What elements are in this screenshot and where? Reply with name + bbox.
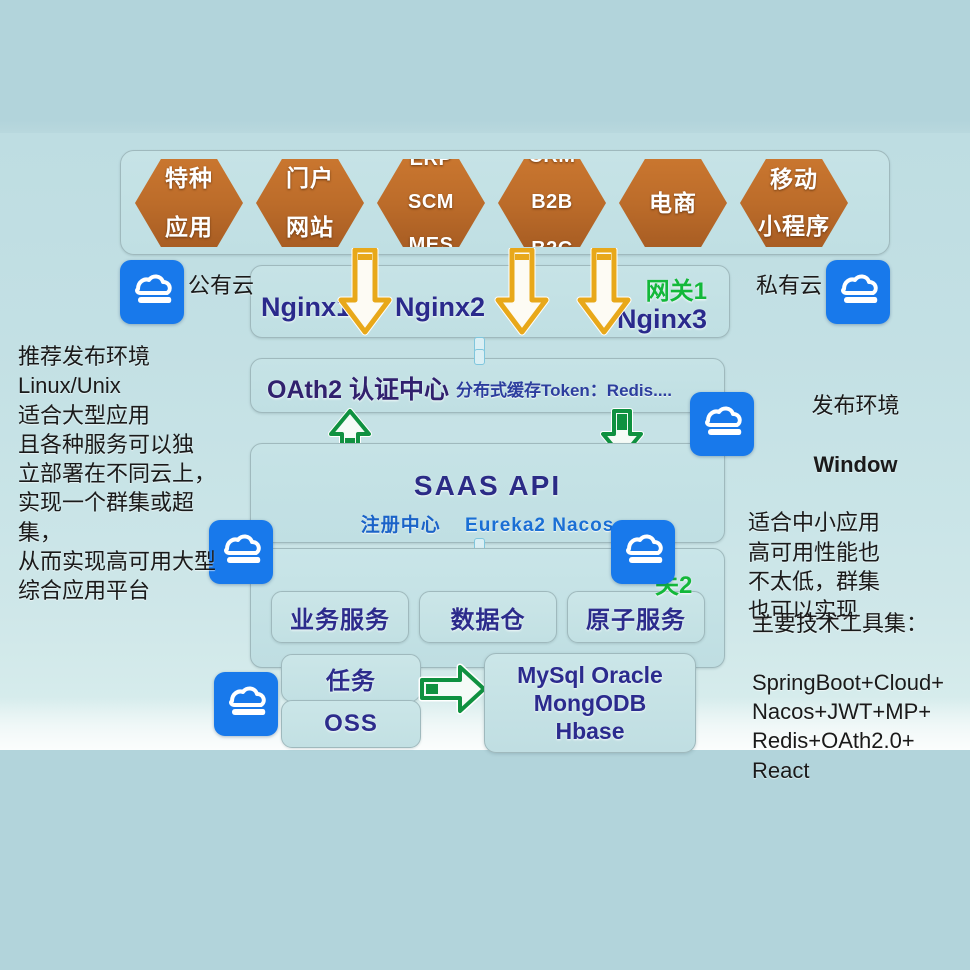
public-cloud-label: 公有云 — [188, 268, 254, 300]
hex-line: SCM — [408, 192, 454, 214]
hex-line: 移动 — [758, 167, 830, 192]
app-hex-mobile[interactable]: 移动小程序 — [740, 159, 848, 247]
cloud-icon-private[interactable] — [826, 260, 890, 324]
saas-title: SAAS API — [251, 470, 724, 502]
database-box[interactable]: MySql Oracle MongODB Hbase — [484, 653, 696, 753]
task-label: 任务 — [326, 661, 376, 696]
app-hex-special[interactable]: 特种应用 — [135, 159, 243, 247]
db-line: Hbase — [555, 717, 624, 745]
cloud-icon — [620, 532, 666, 572]
oss-label: OSS — [324, 710, 378, 738]
tech-note-body: SpringBoot+Cloud+ Nacos+JWT+MP+ Redis+OA… — [752, 668, 967, 785]
cloud-icon — [129, 272, 175, 312]
oss-box[interactable]: OSS — [281, 700, 421, 748]
app-hex-ecommerce[interactable]: 电商 — [619, 159, 727, 247]
hex-line: 特种 — [165, 166, 213, 191]
right-note-title: 发布环境 — [748, 391, 963, 420]
hex-line: B2B — [528, 192, 575, 214]
service-box-business[interactable]: 业务服务 — [271, 591, 409, 643]
cloud-icon — [699, 404, 745, 444]
applications-panel: 特种应用 门户网站 ERPSCMMES CRMB2BB2C 电商 移动小程序 — [120, 150, 890, 255]
db-line: MySql Oracle — [517, 661, 663, 689]
app-hex-crm[interactable]: CRMB2BB2C — [498, 159, 606, 247]
tech-note-title: 主要技术工具集： — [752, 609, 967, 638]
architecture-diagram: 特种应用 门户网站 ERPSCMMES CRMB2BB2C 电商 移动小程序 N… — [0, 0, 970, 970]
service-label: 业务服务 — [290, 600, 390, 635]
service-label: 原子服务 — [586, 600, 686, 635]
nginx2-label: Nginx2 — [395, 292, 485, 323]
flow-arrow-down-yellow-1 — [336, 248, 394, 336]
hex-line: MES — [408, 235, 454, 257]
service-box-datawarehouse[interactable]: 数据仓 — [419, 591, 557, 643]
oauth-panel: OAth2 认证中心 分布式缓存Token：Redis.... — [250, 358, 725, 413]
flow-arrow-down-yellow-3 — [575, 248, 633, 336]
private-cloud-label: 私有云 — [756, 268, 822, 300]
gateway1-panel: Nginx1 Nginx2 Nginx3 网关1 — [250, 265, 730, 338]
registry-list: Eureka2 Nacos — [465, 515, 614, 536]
cloud-icon-gateway2[interactable] — [611, 520, 675, 584]
tech-note: 主要技术工具集： SpringBoot+Cloud+ Nacos+JWT+MP+… — [752, 580, 967, 814]
hex-line: 电商 — [649, 191, 697, 216]
hex-line: 门户 — [286, 166, 334, 191]
app-hex-erp[interactable]: ERPSCMMES — [377, 159, 485, 247]
cloud-icon — [835, 272, 881, 312]
cloud-icon-task[interactable] — [214, 672, 278, 736]
hex-line: ERP — [408, 149, 454, 171]
hex-line: 应用 — [165, 215, 213, 240]
flow-arrow-right-green — [418, 661, 488, 717]
hex-line: 小程序 — [758, 214, 830, 239]
flow-arrow-down-yellow-2 — [493, 248, 551, 336]
registry-label: 注册中心 — [361, 515, 441, 536]
connector-auth-top — [474, 349, 485, 365]
hex-line: CRM — [528, 146, 575, 168]
left-note: 推荐发布环境 Linux/Unix 适合大型应用 且各种服务可以独 立部署在不同… — [18, 342, 233, 605]
cloud-icon — [223, 684, 269, 724]
task-box[interactable]: 任务 — [281, 654, 421, 702]
db-line: MongODB — [534, 689, 646, 717]
oauth-title: OAth2 认证中心 — [267, 370, 449, 406]
cloud-icon-public[interactable] — [120, 260, 184, 324]
service-label: 数据仓 — [451, 600, 526, 635]
right-note-env: Window — [748, 450, 963, 479]
hex-line: 网站 — [286, 215, 334, 240]
oauth-subtitle: 分布式缓存Token：Redis.... — [456, 376, 672, 401]
cloud-icon-auth[interactable] — [690, 392, 754, 456]
app-hex-portal[interactable]: 门户网站 — [256, 159, 364, 247]
gateway1-badge: 网关1 — [646, 271, 707, 306]
